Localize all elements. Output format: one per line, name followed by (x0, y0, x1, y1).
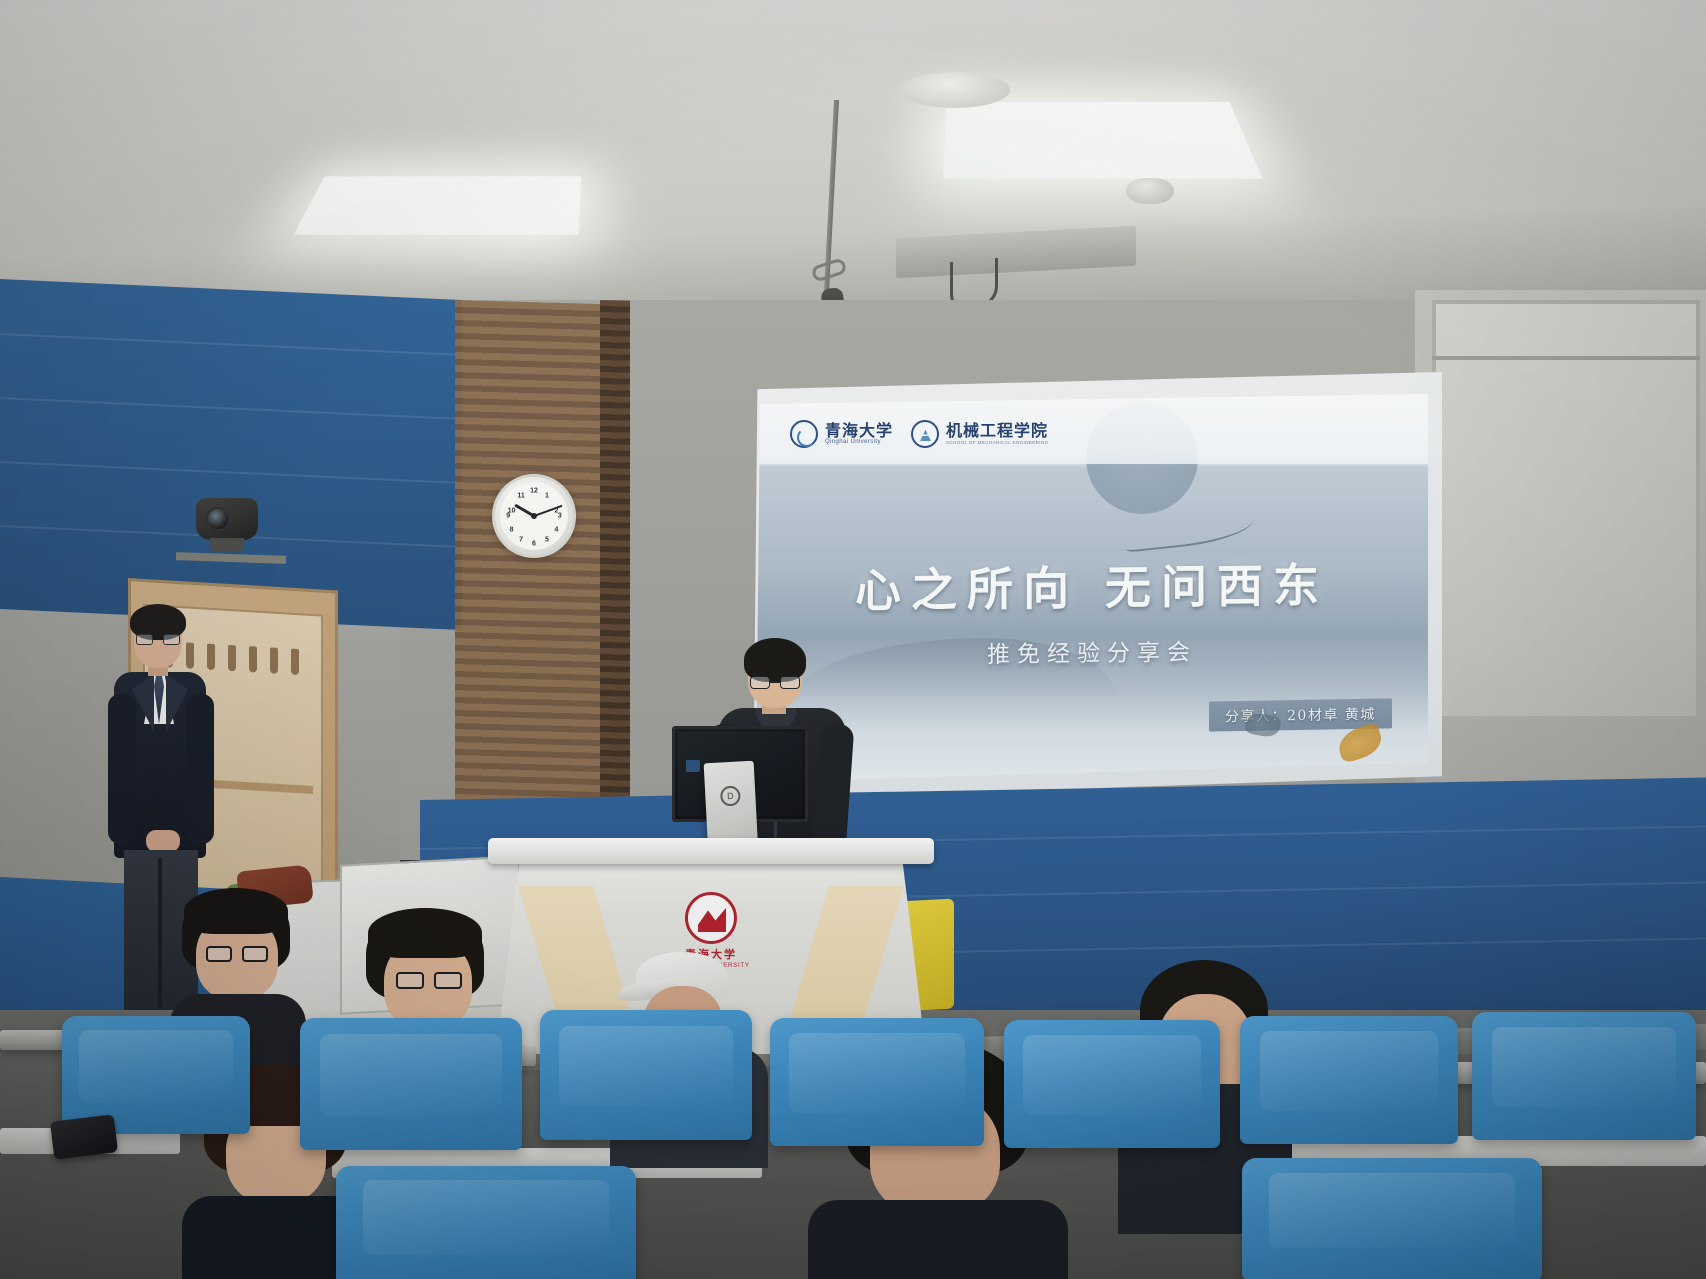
slide-subtitle: 推免经验分享会 (756, 630, 1428, 672)
wall-clock: 12 1 2 3 4 5 6 7 8 9 10 11 (492, 474, 576, 558)
clock-number: 4 (554, 527, 558, 534)
ptz-camera-icon (196, 498, 258, 540)
slide-title: 心之所向 无问西东 (756, 548, 1428, 622)
slide-logo-row: 青海大学 Qinghai University 机械工程学院 SCHOOL OF… (790, 420, 1049, 448)
clock-number: 1 (545, 493, 549, 500)
eyeglasses-icon (206, 946, 268, 962)
university-name-en: Qinghai University (825, 439, 893, 445)
arm-left (108, 694, 136, 844)
audience-chair (540, 1010, 752, 1140)
clock-number: 7 (519, 537, 523, 544)
ceiling-light-right (943, 102, 1263, 179)
presentation-slide: 青海大学 Qinghai University 机械工程学院 SCHOOL OF… (756, 394, 1428, 782)
torso (808, 1200, 1068, 1279)
clock-number: 10 (508, 508, 516, 515)
laptop-brand-mark: D (720, 786, 741, 807)
ceiling-light-left (294, 176, 581, 234)
audience-chair (1472, 1012, 1696, 1140)
whiteboard (1432, 300, 1700, 720)
clock-face: 12 1 2 3 4 5 6 7 8 9 10 11 (500, 482, 568, 550)
eyeglasses-icon (136, 634, 180, 645)
clock-center-pin (531, 513, 537, 519)
lectern-top-surface (488, 838, 934, 864)
wood-slat-wall-dark (600, 300, 630, 881)
clasped-hands (146, 830, 180, 852)
eyeglasses-icon (396, 972, 462, 989)
arm-right (186, 694, 214, 844)
camera-mount (210, 538, 244, 552)
university-seal-icon (685, 892, 737, 944)
screen-icon (686, 760, 700, 772)
coat-hook-icon (291, 649, 299, 675)
audience-chair (1004, 1020, 1220, 1148)
audience-chair (770, 1018, 984, 1146)
smoke-detector-icon (1126, 178, 1174, 204)
clock-number: 11 (517, 493, 524, 500)
eyeglasses-icon (750, 676, 800, 689)
presenter-fringe (746, 646, 804, 668)
school-logo: 机械工程学院 SCHOOL OF MECHANICAL ENGINEERING (911, 420, 1048, 448)
whiteboard-divider (1432, 356, 1700, 360)
coat-hook-icon (249, 646, 257, 672)
left-wall-blue-panel (0, 279, 462, 630)
school-emblem-icon (911, 420, 939, 448)
clock-number: 6 (532, 540, 536, 547)
school-name-en: SCHOOL OF MECHANICAL ENGINEERING (946, 440, 1048, 445)
university-logo-text: 青海大学 Qinghai University (825, 423, 893, 446)
school-logo-text: 机械工程学院 SCHOOL OF MECHANICAL ENGINEERING (946, 423, 1048, 445)
audience-chair-front (1242, 1158, 1542, 1279)
lecture-hall-photo: 12 1 2 3 4 5 6 7 8 9 10 11 (0, 0, 1706, 1279)
smartphone-on-desk (50, 1114, 118, 1160)
trouser-seam (158, 858, 162, 1008)
university-name-cn: 青海大学 (825, 423, 893, 440)
audience-chair (1240, 1016, 1458, 1144)
clock-number: 3 (558, 513, 562, 520)
fringe (368, 908, 482, 958)
panel-seam-lines (0, 279, 462, 630)
fringe (184, 888, 288, 934)
school-name-cn: 机械工程学院 (946, 423, 1048, 440)
audience-chair-front (336, 1166, 636, 1279)
clock-number: 8 (510, 527, 514, 534)
university-logo: 青海大学 Qinghai University (790, 420, 893, 448)
audience-chair (300, 1018, 522, 1150)
clock-number: 12 (530, 488, 538, 495)
clock-number: 5 (545, 537, 549, 544)
camera-lens-icon (206, 507, 230, 531)
coat-hook-icon (228, 645, 236, 671)
ceiling-mount-disc (900, 72, 1010, 108)
coat-hook-icon (270, 647, 278, 673)
university-seal-icon (790, 420, 818, 448)
